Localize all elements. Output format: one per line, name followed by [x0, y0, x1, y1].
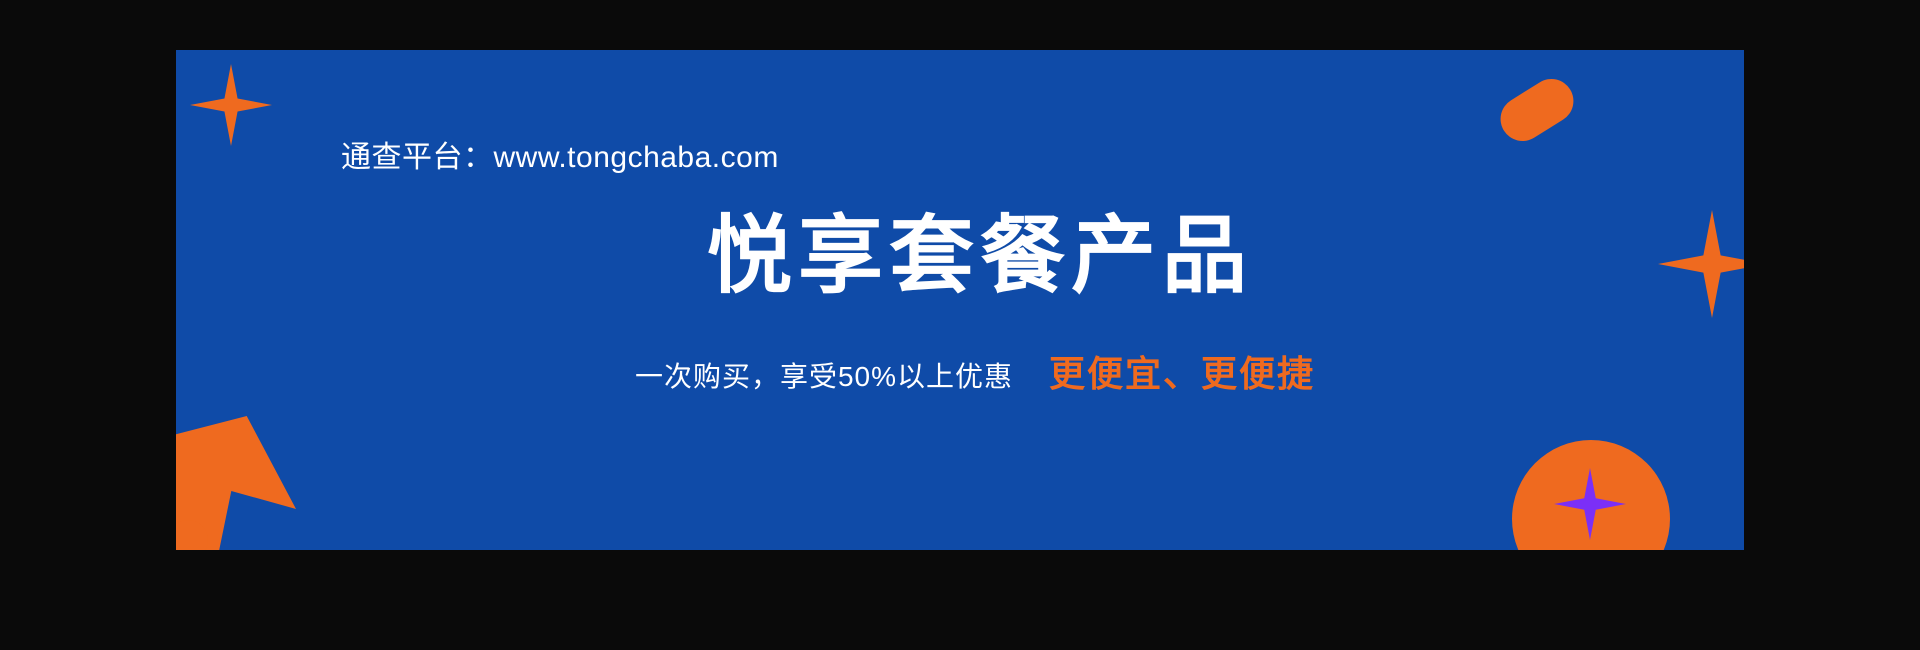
banner-content: 通查平台：www.tongchaba.com 悦享套餐产品 一次购买，享受50%… [176, 50, 1744, 550]
promo-banner: 通查平台：www.tongchaba.com 悦享套餐产品 一次购买，享受50%… [176, 50, 1744, 550]
platform-label: 通查平台： [341, 141, 494, 174]
banner-subtitle-row: 一次购买，享受50%以上优惠 更便宜、更便捷 [176, 345, 1744, 397]
platform-url[interactable]: www.tongchaba.com [494, 141, 779, 174]
subtitle-highlight-text: 更便宜、更便捷 [1049, 345, 1315, 397]
banner-title: 悦享套餐产品 [176, 212, 1744, 301]
subtitle-offer-text: 一次购买，享受50%以上优惠 [635, 355, 1013, 395]
platform-line: 通查平台：www.tongchaba.com [341, 132, 779, 176]
